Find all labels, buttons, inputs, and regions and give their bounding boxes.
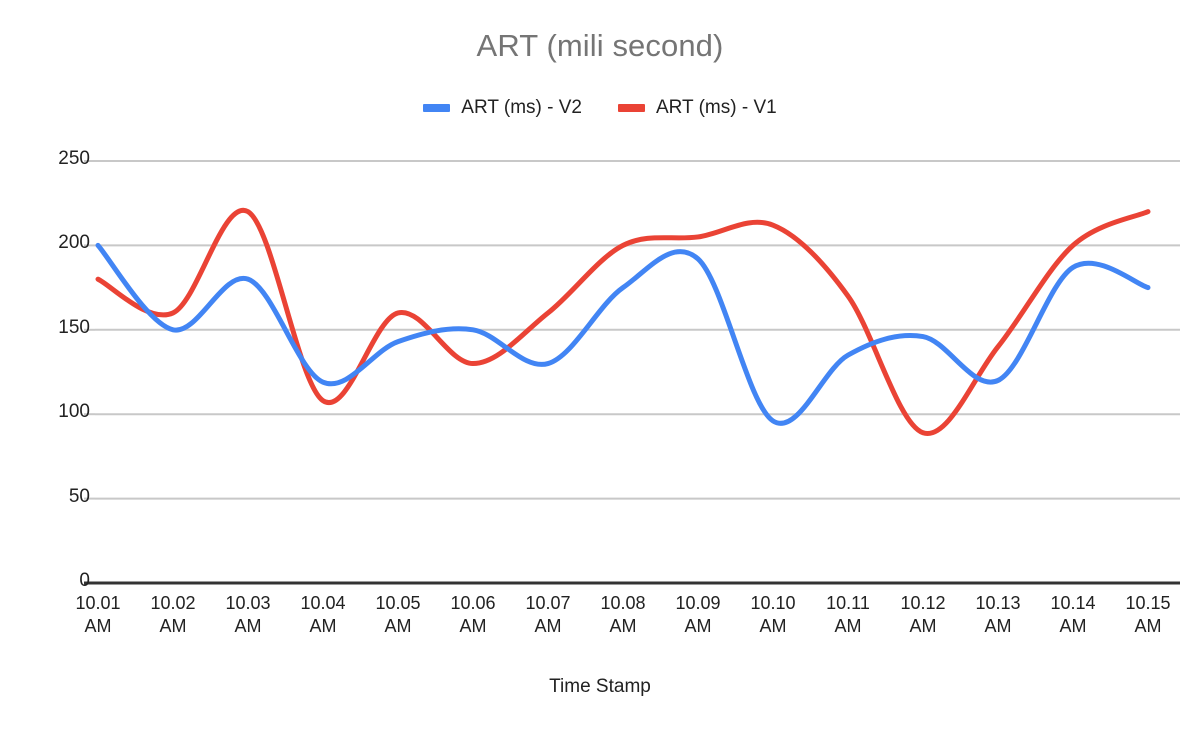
y-tick-marks bbox=[84, 161, 95, 583]
y-tick-label: 0 bbox=[20, 570, 90, 592]
y-tick-label: 100 bbox=[20, 401, 90, 423]
x-axis-title: Time Stamp bbox=[0, 676, 1200, 698]
y-tick-label: 50 bbox=[20, 486, 90, 508]
series-line-v1 bbox=[98, 210, 1148, 433]
gridlines bbox=[95, 161, 1180, 499]
series-line-v2 bbox=[98, 245, 1148, 423]
y-tick-label: 200 bbox=[20, 232, 90, 254]
x-tick-label: 10.15AM bbox=[1103, 592, 1193, 638]
y-tick-label: 250 bbox=[20, 148, 90, 170]
y-tick-label: 150 bbox=[20, 317, 90, 339]
chart-container: ART (mili second) ART (ms) - V2 ART (ms)… bbox=[0, 0, 1200, 742]
